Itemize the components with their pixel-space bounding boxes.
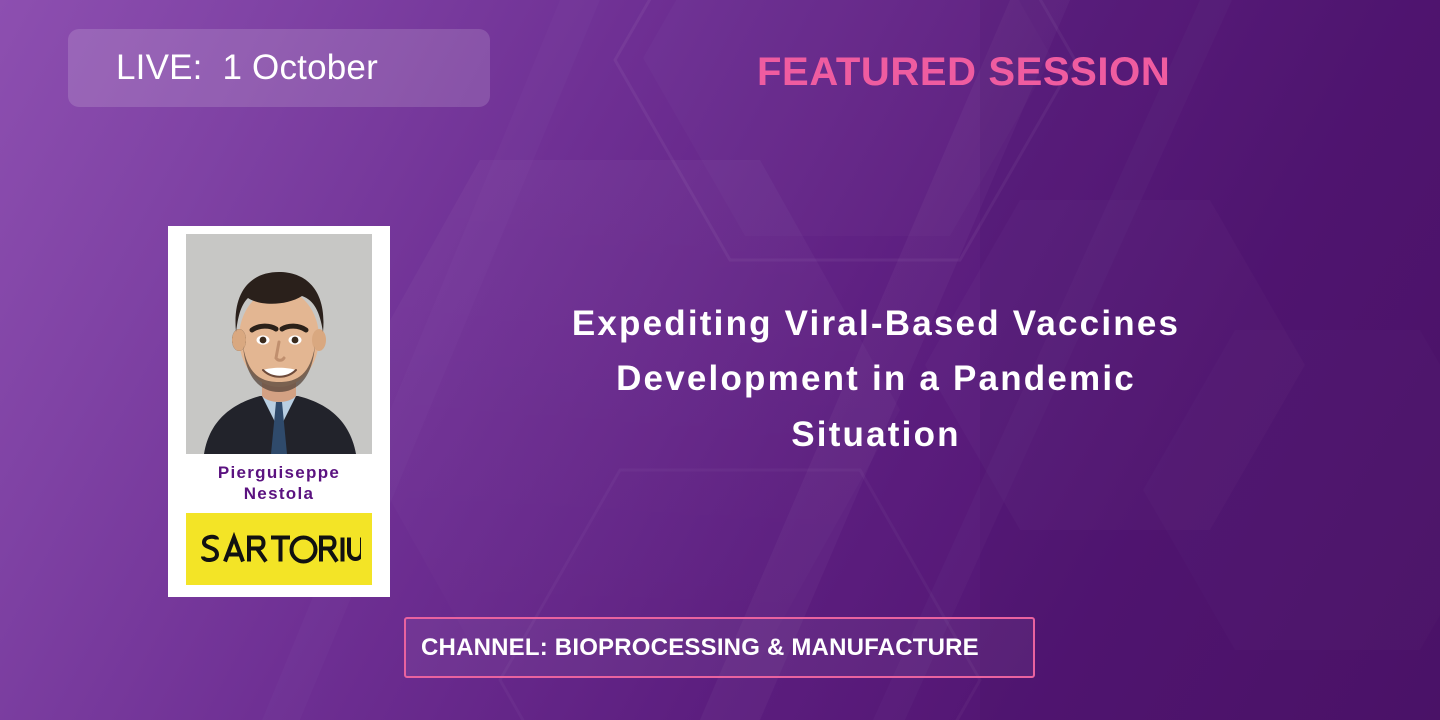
channel-banner: CHANNEL: BIOPROCESSING & MANUFACTURE — [404, 617, 1035, 678]
hexagon-shape-top-fill — [643, 0, 1052, 236]
hexagon-shape-bottom — [500, 470, 980, 720]
speaker-photo — [186, 234, 372, 454]
sartorius-logo-icon — [197, 532, 361, 566]
featured-session-heading: FEATURED SESSION — [757, 50, 1170, 95]
speaker-card: Pierguiseppe Nestola — [168, 226, 390, 597]
session-title: Expediting Viral-Based Vaccines Developm… — [470, 296, 1282, 462]
hexagon-shape-top — [615, 0, 1075, 260]
session-promo-slide: LIVE: 1 October FEATURED SESSION — [0, 0, 1440, 720]
speaker-headshot-illustration — [186, 234, 372, 454]
speaker-name: Pierguiseppe Nestola — [218, 463, 340, 504]
live-date-label: LIVE: 1 October — [68, 48, 378, 88]
live-date-badge: LIVE: 1 October — [68, 29, 490, 107]
channel-label: CHANNEL: BIOPROCESSING & MANUFACTURE — [406, 634, 979, 662]
company-logo-sartorius — [186, 513, 372, 585]
